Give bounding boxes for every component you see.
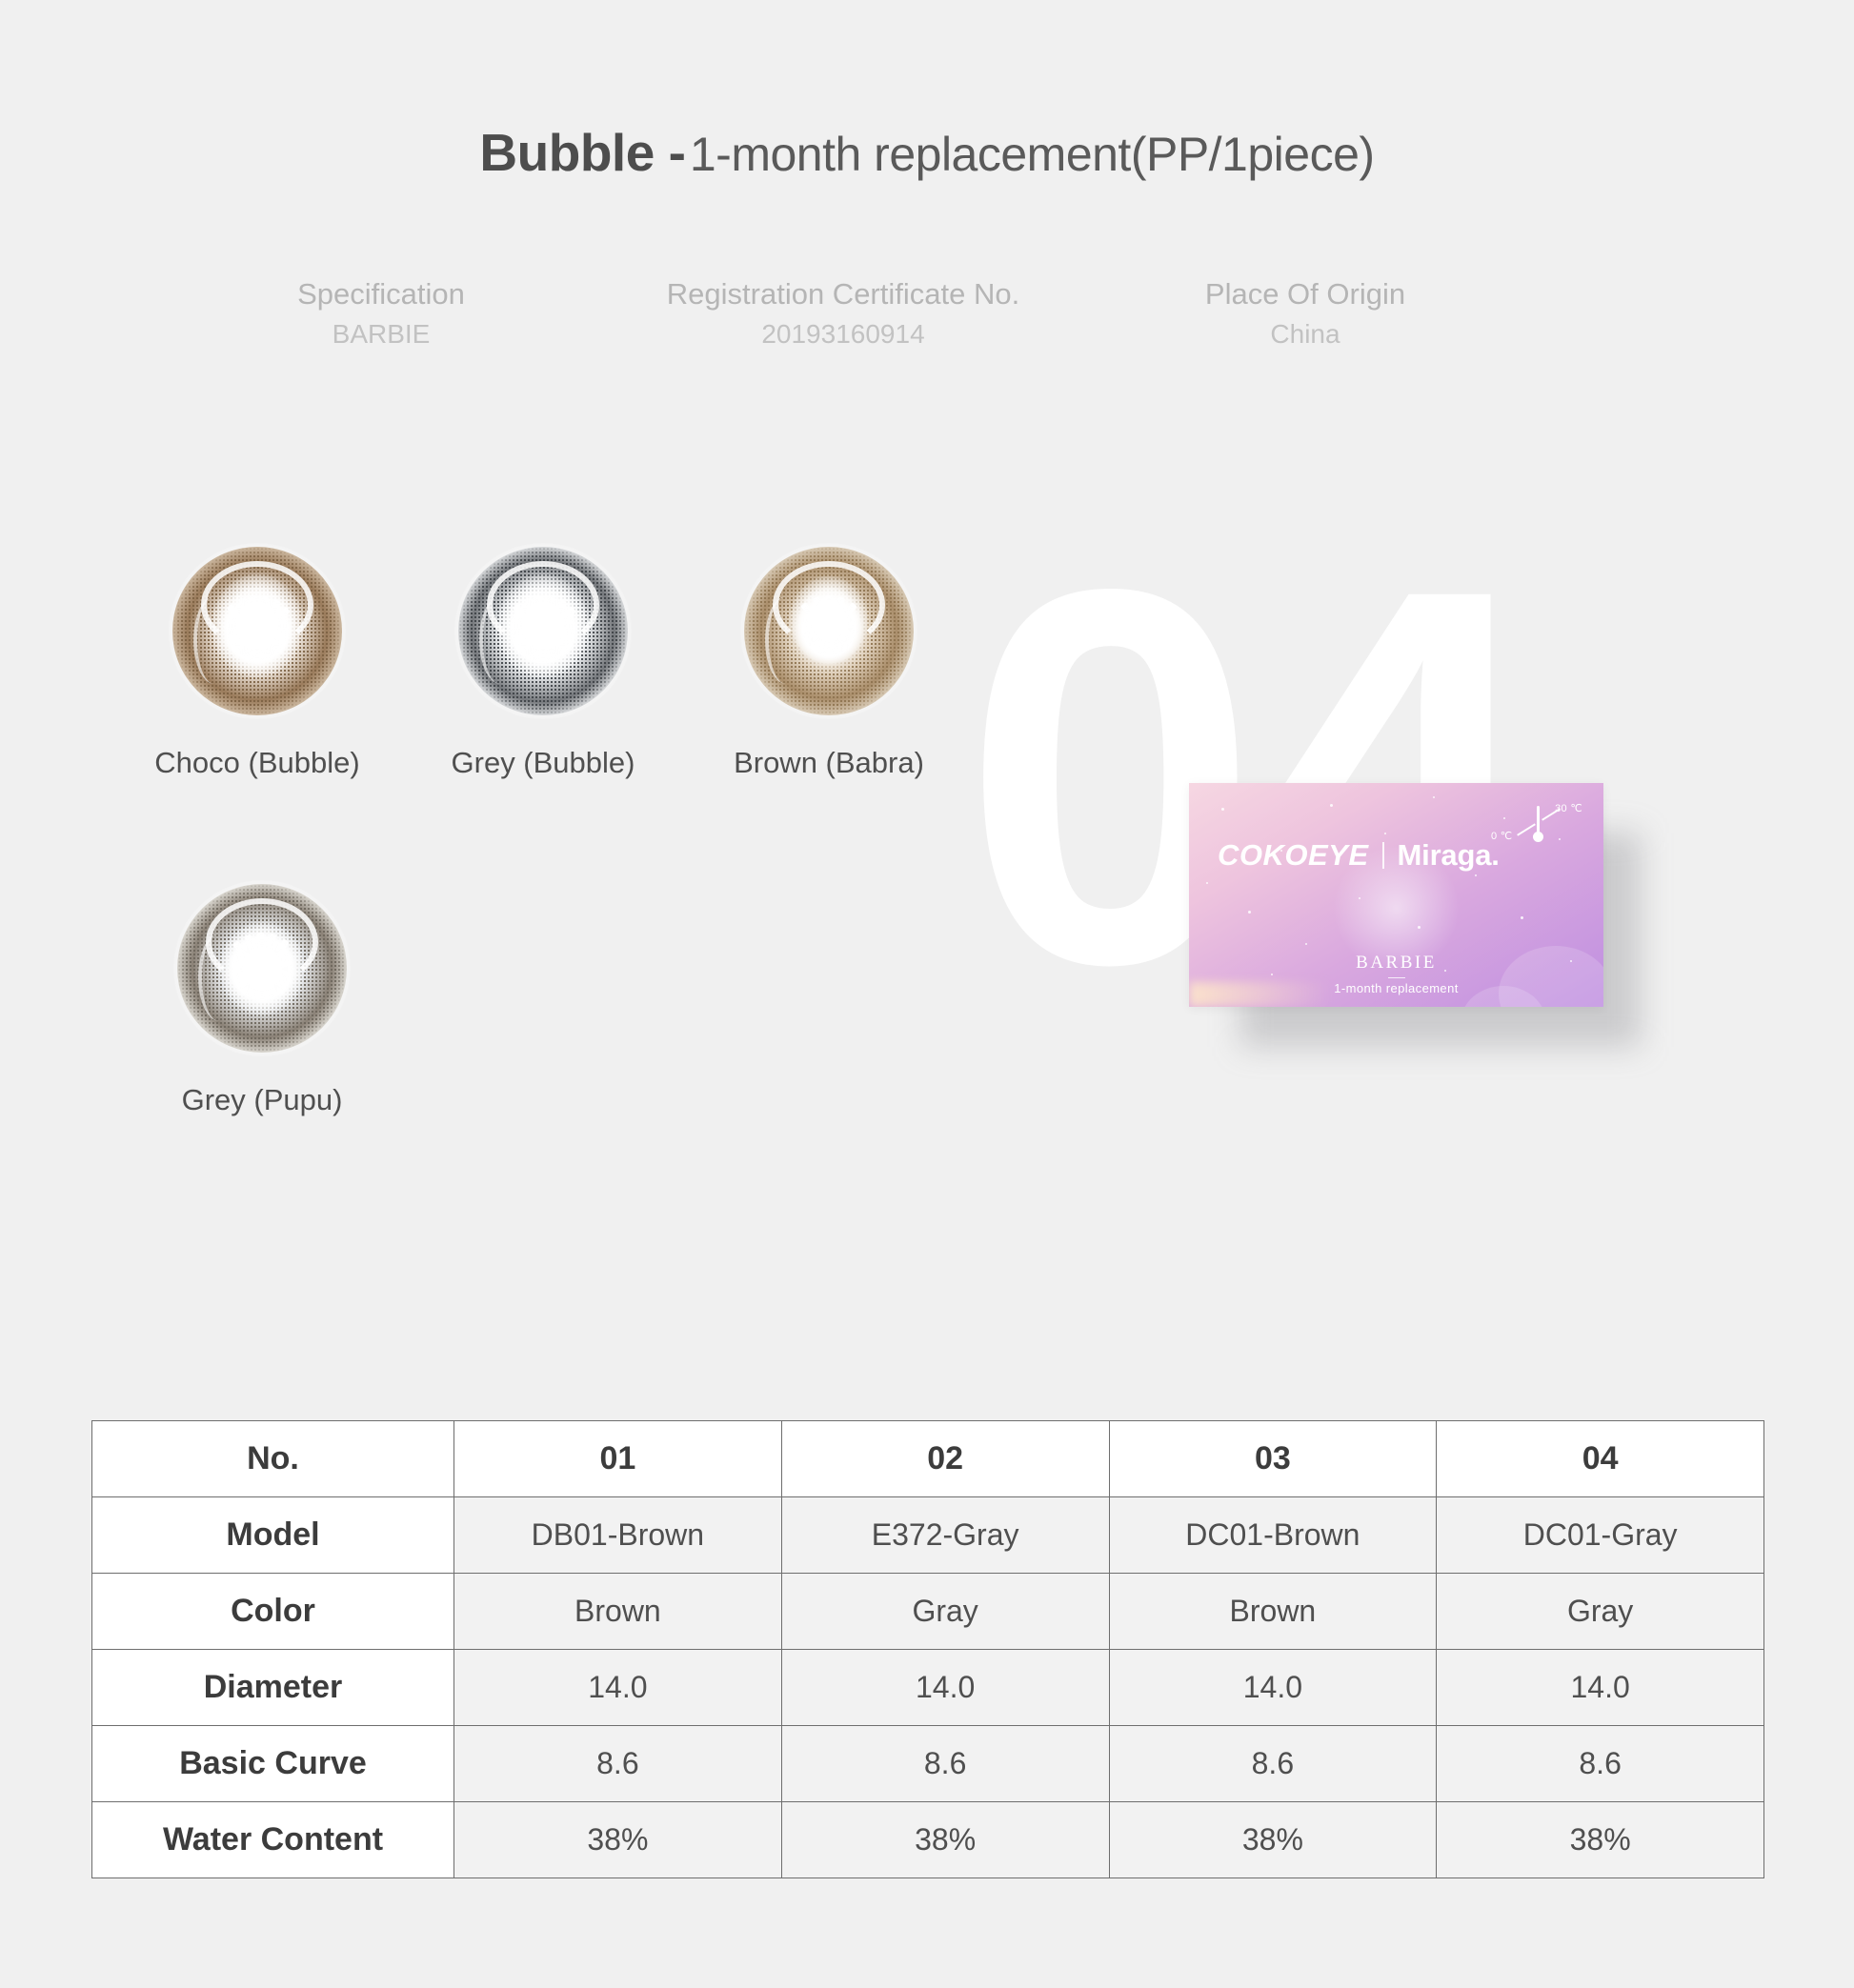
- table-rowlabel-no: No.: [92, 1421, 454, 1497]
- table-cell-model-04: DC01-Gray: [1437, 1497, 1764, 1574]
- table-rowlabel-basic-curve: Basic Curve: [92, 1726, 454, 1802]
- table-cell-water-content-03: 38%: [1109, 1802, 1437, 1878]
- lens-swatch-row-1: Choco (Bubble): [114, 543, 972, 780]
- spec-item-registration: Registration Certificate No. 20193160914: [600, 274, 1086, 354]
- product-box[interactable]: COKOEYE Miraga. 30 ℃ 0 ℃ BARBIE 1-month …: [1189, 783, 1603, 1007]
- lens-swatch-row-2: Grey (Pupu): [114, 880, 972, 1117]
- table-rowlabel-diameter: Diameter: [92, 1650, 454, 1726]
- table-cell-basic-curve-02: 8.6: [781, 1726, 1109, 1802]
- page-title: Bubble - 1-month replacement(PP/1piece): [0, 122, 1854, 183]
- spec-value-registration: 20193160914: [600, 314, 1086, 354]
- table-row-water-content: Water Content 38% 38% 38% 38%: [92, 1802, 1764, 1878]
- table-cell-diameter-02: 14.0: [781, 1650, 1109, 1726]
- box-brand-name: COKOEYE: [1218, 838, 1369, 873]
- table-row-model: Model DB01-Brown E372-Gray DC01-Brown DC…: [92, 1497, 1764, 1574]
- page-title-strong: Bubble -: [479, 123, 685, 182]
- table-row-basic-curve: Basic Curve 8.6 8.6 8.6 8.6: [92, 1726, 1764, 1802]
- table-rowlabel-model: Model: [92, 1497, 454, 1574]
- table-rowlabel-water-content: Water Content: [92, 1802, 454, 1878]
- lens-art-grey-bubble: [448, 543, 638, 719]
- table-cell-diameter-01: 14.0: [454, 1650, 782, 1726]
- table-rowlabel-color: Color: [92, 1574, 454, 1650]
- specification-table: No. 01 02 03 04 Model DB01-Brown E372-Gr…: [91, 1420, 1764, 1878]
- spec-item-origin: Place Of Origin China: [1086, 274, 1524, 354]
- spec-label-registration: Registration Certificate No.: [600, 274, 1086, 314]
- lens-swatch-grey-bubble[interactable]: Grey (Bubble): [400, 543, 686, 780]
- table-cell-water-content-02: 38%: [781, 1802, 1109, 1878]
- box-series-name: BARBIE: [1189, 953, 1603, 974]
- table-cell-model-01: DB01-Brown: [454, 1497, 782, 1574]
- table-cell-water-content-04: 38%: [1437, 1802, 1764, 1878]
- lens-swatch-grid: Choco (Bubble): [114, 543, 972, 1117]
- lens-art-grey-pupu: [167, 880, 357, 1056]
- box-logo-divider: [1382, 842, 1384, 869]
- lens-label-brown-babra: Brown (Babra): [686, 746, 972, 780]
- lens-label-grey-pupu: Grey (Pupu): [114, 1083, 410, 1117]
- lens-swatch-grey-pupu[interactable]: Grey (Pupu): [114, 880, 410, 1117]
- table-cell-basic-curve-01: 8.6: [454, 1726, 782, 1802]
- table-cell-water-content-01: 38%: [454, 1802, 782, 1878]
- spec-value-specification: BARBIE: [162, 314, 600, 354]
- temperature-low-label: 0 ℃: [1491, 830, 1512, 842]
- spec-item-specification: Specification BARBIE: [162, 274, 600, 354]
- lens-label-choco-bubble: Choco (Bubble): [114, 746, 400, 780]
- spec-label-specification: Specification: [162, 274, 600, 314]
- table-cell-model-03: DC01-Brown: [1109, 1497, 1437, 1574]
- box-footer: BARBIE 1-month replacement: [1189, 953, 1603, 995]
- table-cell-diameter-03: 14.0: [1109, 1650, 1437, 1726]
- table-cell-color-01: Brown: [454, 1574, 782, 1650]
- table-col-header-01: 01: [454, 1421, 782, 1497]
- box-replacement-text: 1-month replacement: [1189, 981, 1603, 995]
- lens-art-brown-babra: [734, 543, 924, 719]
- thermometer-icon: 30 ℃ 0 ℃: [1491, 800, 1582, 848]
- table-cell-color-02: Gray: [781, 1574, 1109, 1650]
- spec-label-origin: Place Of Origin: [1086, 274, 1524, 314]
- table-row-diameter: Diameter 14.0 14.0 14.0 14.0: [92, 1650, 1764, 1726]
- lens-swatch-brown-babra[interactable]: Brown (Babra): [686, 543, 972, 780]
- table-col-header-04: 04: [1437, 1421, 1764, 1497]
- table-row-header: No. 01 02 03 04: [92, 1421, 1764, 1497]
- lens-art-choco-bubble: [162, 543, 353, 719]
- specification-strip: Specification BARBIE Registration Certif…: [162, 274, 1524, 354]
- box-logo: COKOEYE Miraga.: [1218, 838, 1500, 873]
- box-footer-tick: [1388, 977, 1405, 978]
- table-cell-model-02: E372-Gray: [781, 1497, 1109, 1574]
- table-cell-color-04: Gray: [1437, 1574, 1764, 1650]
- page-title-light: 1-month replacement(PP/1piece): [690, 128, 1375, 181]
- table-col-header-03: 03: [1109, 1421, 1437, 1497]
- table-cell-basic-curve-03: 8.6: [1109, 1726, 1437, 1802]
- table-cell-basic-curve-04: 8.6: [1437, 1726, 1764, 1802]
- table-row-color: Color Brown Gray Brown Gray: [92, 1574, 1764, 1650]
- table-col-header-02: 02: [781, 1421, 1109, 1497]
- table-cell-diameter-04: 14.0: [1437, 1650, 1764, 1726]
- lens-swatch-choco-bubble[interactable]: Choco (Bubble): [114, 543, 400, 780]
- table-cell-color-03: Brown: [1109, 1574, 1437, 1650]
- product-detail-page: Bubble - 1-month replacement(PP/1piece) …: [0, 0, 1854, 1988]
- spec-value-origin: China: [1086, 314, 1524, 354]
- box-sub-brand-name: Miraga.: [1398, 838, 1500, 873]
- lens-label-grey-bubble: Grey (Bubble): [400, 746, 686, 780]
